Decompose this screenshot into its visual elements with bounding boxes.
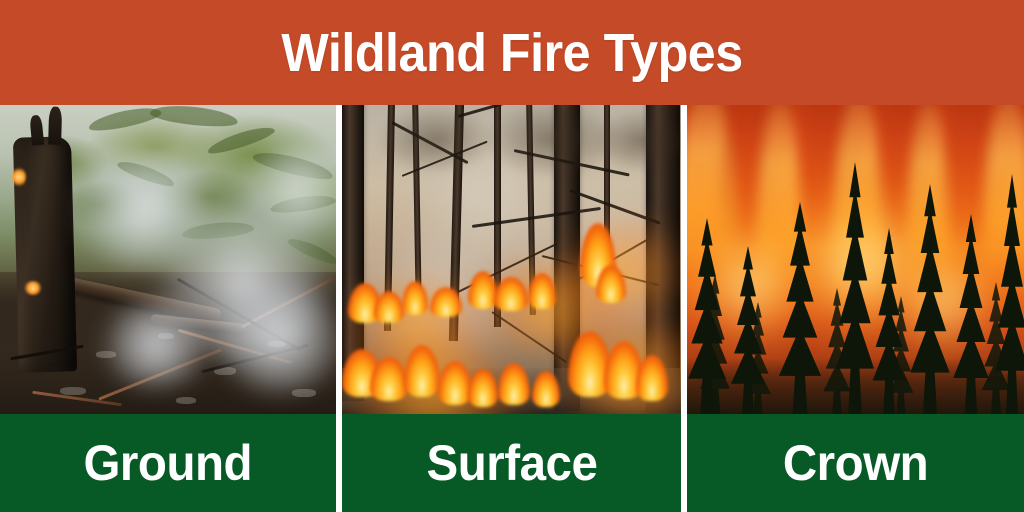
caption-crown: Crown (687, 414, 1024, 512)
smoke-plume (96, 301, 216, 387)
ember (24, 281, 42, 295)
fire-type-label-crown: Crown (783, 438, 928, 488)
fire-type-label-ground: Ground (84, 438, 253, 488)
caption-ground: Ground (0, 414, 336, 512)
crown-fire-photo (687, 105, 1024, 414)
caption-surface: Surface (342, 414, 681, 512)
page-title: Wildland Fire Types (281, 26, 742, 80)
fire-type-panel-crown: Crown (687, 105, 1024, 512)
ember (12, 167, 26, 187)
fire-type-panel-surface: Surface (342, 105, 681, 512)
flame-streak (983, 105, 1024, 319)
fire-type-panels: Ground (0, 105, 1024, 512)
title-banner: Wildland Fire Types (0, 0, 1024, 105)
canopy-foliage (592, 109, 681, 173)
ground-fire-photo (0, 105, 336, 414)
ash-speck (176, 397, 196, 404)
wildland-fire-types-infographic: Wildland Fire Types (0, 0, 1024, 512)
fire-type-label-surface: Surface (426, 438, 597, 488)
surface-fire-photo (342, 105, 681, 414)
ash-speck (60, 387, 86, 395)
fire-type-panel-ground: Ground (0, 105, 336, 512)
stump-prong (48, 107, 62, 145)
canopy-foliage (376, 105, 496, 175)
